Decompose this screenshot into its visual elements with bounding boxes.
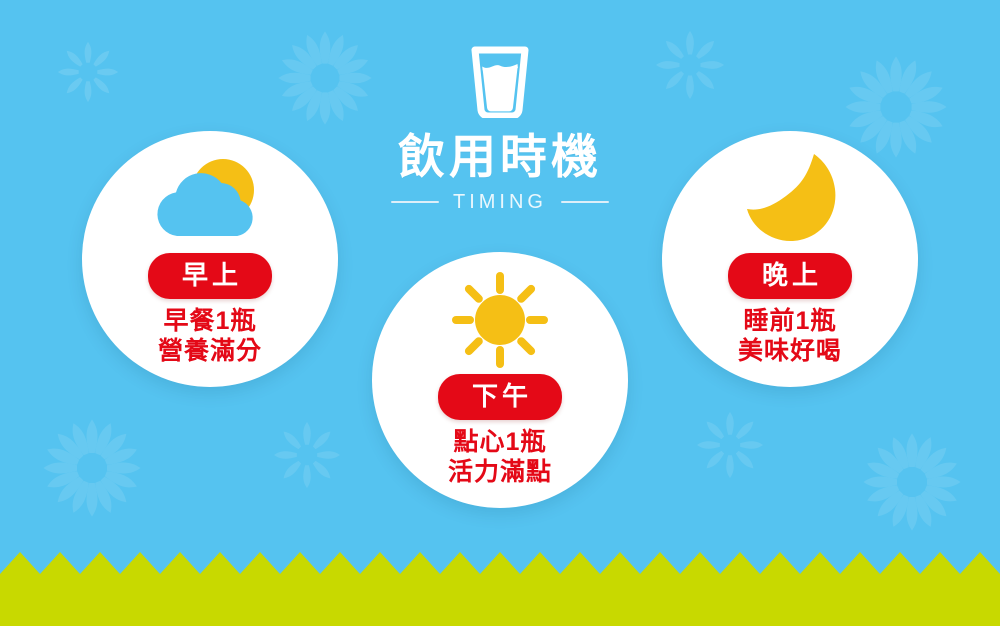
card-description-line-2: 活力滿點: [448, 458, 552, 488]
subtitle-rule-right: [561, 201, 609, 203]
card-description: 早餐1瓶 營養滿分: [158, 307, 262, 366]
card-description: 點心1瓶 活力滿點: [448, 428, 552, 487]
zigzag-shape: [0, 552, 1000, 626]
page-subtitle: TIMING: [453, 192, 547, 212]
status-badge: 下午: [438, 374, 562, 420]
bottom-zigzag-band: [0, 526, 1000, 626]
infographic-poster: 飲用時機 TIMING 早上 早餐1瓶 營養滿分: [0, 0, 1000, 626]
subtitle-rule-left: [391, 201, 439, 203]
poster-header: 飲用時機 TIMING: [0, 44, 1000, 212]
card-description-line-2: 美味好喝: [738, 337, 842, 367]
subtitle-row: TIMING: [391, 192, 609, 212]
card-icon-wrapper: [451, 274, 549, 370]
decorative-burst-7-icon: [696, 411, 764, 479]
decorative-burst-6-icon: [273, 421, 341, 489]
card-description-line-1: 早餐1瓶: [158, 307, 262, 337]
decorative-burst-5-icon: [42, 418, 142, 518]
water-glass-icon: [469, 44, 531, 123]
card-description: 睡前1瓶 美味好喝: [738, 307, 842, 366]
sun-icon: [451, 272, 549, 373]
page-title: 飲用時機: [398, 133, 602, 180]
card-description-line-1: 睡前1瓶: [738, 307, 842, 337]
card-description-line-1: 點心1瓶: [448, 428, 552, 458]
timing-card-afternoon[interactable]: 下午 點心1瓶 活力滿點: [372, 252, 628, 508]
status-badge: 早上: [148, 253, 272, 299]
status-badge: 晚上: [728, 253, 852, 299]
decorative-burst-8-icon: [862, 432, 962, 532]
card-description-line-2: 營養滿分: [158, 337, 262, 367]
